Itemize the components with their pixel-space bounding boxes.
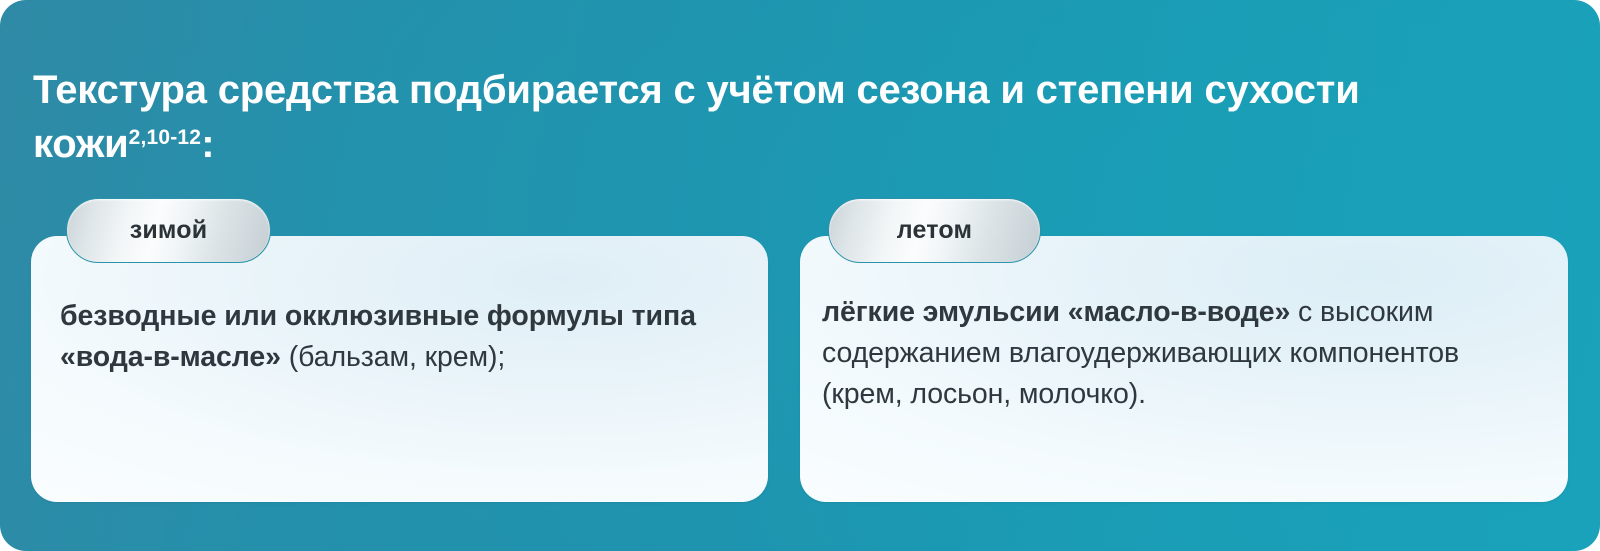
season-card-winter-light-text: (бальзам, крем); (281, 341, 505, 373)
page-title-suffix: : (201, 122, 214, 166)
season-card-summer-body: лёгкие эмульсии «масло-в-воде» с высоким… (822, 292, 1544, 415)
season-card-winter-body: безводные или окклюзивные формулы типа «… (60, 296, 744, 378)
season-card-summer: летом лёгкие эмульсии «масло-в-воде» с в… (800, 236, 1568, 502)
season-cards-row: зимой безводные или окклюзивные формулы … (31, 236, 1568, 502)
page-title-superscript: 2,10-12 (129, 126, 202, 149)
season-badge-winter: зимой (66, 198, 271, 263)
page-title-text: Текстура средства подбирается с учётом с… (33, 68, 1360, 166)
season-badge-summer: летом (828, 198, 1041, 263)
season-badge-summer-label: летом (897, 216, 972, 245)
season-badge-winter-label: зимой (130, 216, 208, 245)
season-card-winter: зимой безводные или окклюзивные формулы … (31, 236, 768, 502)
slide-root: Текстура средства подбирается с учётом с… (0, 0, 1600, 551)
page-title: Текстура средства подбирается с учётом с… (33, 63, 1453, 171)
season-card-summer-bold-text: лёгкие эмульсии «масло-в-воде» (822, 296, 1290, 328)
